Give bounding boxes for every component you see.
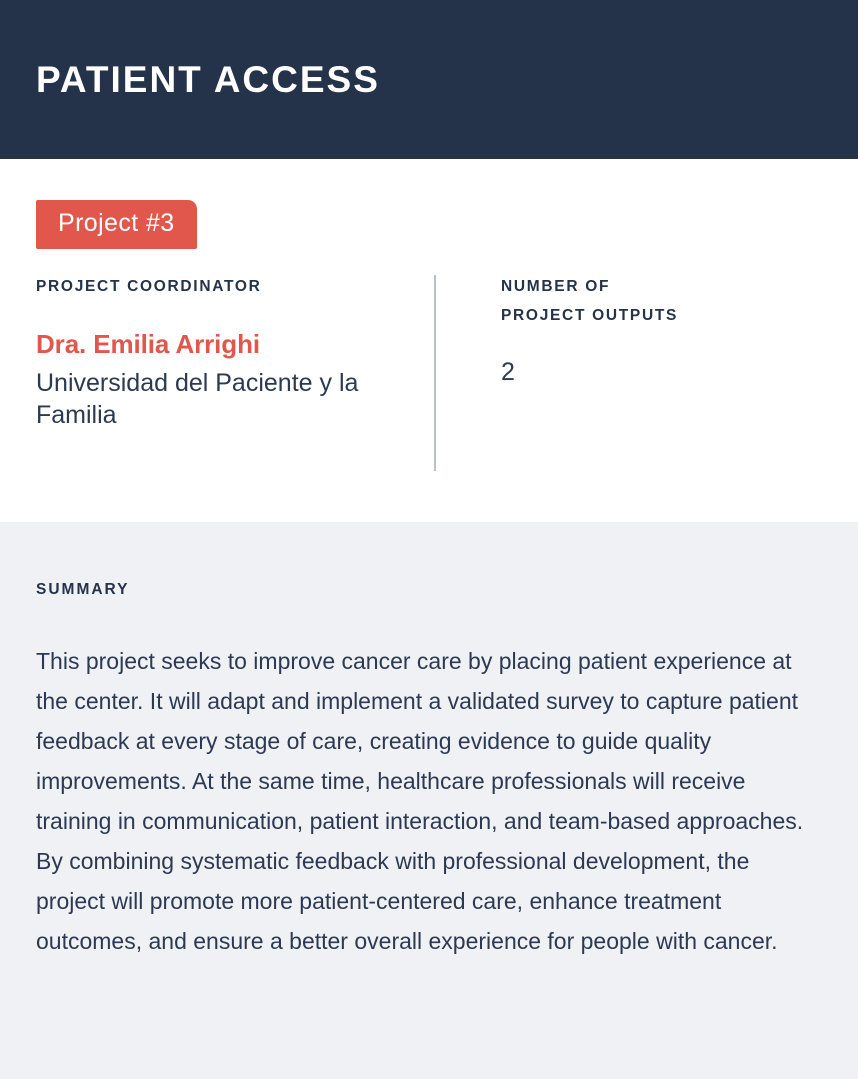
info-columns: PROJECT COORDINATOR Dra. Emilia Arrighi … <box>0 273 858 471</box>
page-title: PATIENT ACCESS <box>36 61 380 98</box>
outputs-value: 2 <box>501 358 678 387</box>
summary-text: This project seeks to improve cancer car… <box>36 641 822 961</box>
project-card-page: PATIENT ACCESS Project #3 PROJECT COORDI… <box>0 0 858 1079</box>
outputs-label-line-1: NUMBER OF <box>501 273 678 302</box>
coordinator-organization: Universidad del Paciente y la Familia <box>36 367 386 431</box>
coordinator-column: PROJECT COORDINATOR Dra. Emilia Arrighi … <box>0 273 434 431</box>
outputs-label-line-2: PROJECT OUTPUTS <box>501 302 678 331</box>
summary-label: SUMMARY <box>36 582 822 598</box>
summary-section: SUMMARY This project seeks to improve ca… <box>0 522 858 1079</box>
project-info-section: Project #3 PROJECT COORDINATOR Dra. Emil… <box>0 159 858 522</box>
coordinator-label: PROJECT COORDINATOR <box>36 273 434 302</box>
header-banner: PATIENT ACCESS <box>0 0 858 159</box>
project-number-badge: Project #3 <box>36 200 197 249</box>
outputs-column: NUMBER OF PROJECT OUTPUTS 2 <box>436 273 678 387</box>
coordinator-name: Dra. Emilia Arrighi <box>36 330 434 360</box>
